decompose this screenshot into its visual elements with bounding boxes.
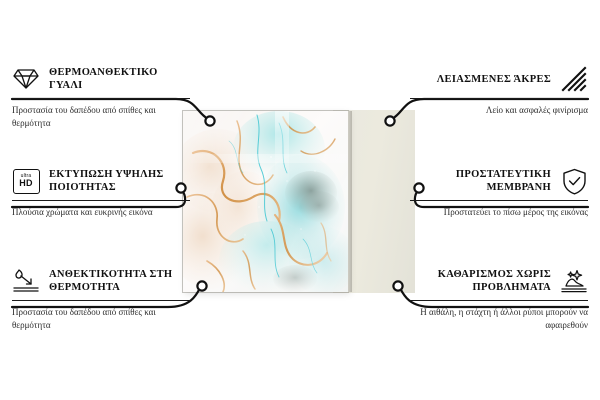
feature-description: Προστασία του δαπέδου από σπίθες και θερ… xyxy=(12,306,190,331)
feature-description: Προστασία του δαπέδου από σπίθες και θερ… xyxy=(12,104,190,129)
shield-check-icon xyxy=(560,167,588,195)
feature-header: ΠΡΟΣΤΑΤΕΥΤΙΚΗ ΜΕΜΒΡΑΝΗ xyxy=(410,166,588,196)
feature-rule xyxy=(410,200,588,201)
feature-description: Πλούσια χρώματα και ευκρινής εικόνα xyxy=(12,206,190,219)
sparkle-clean-icon xyxy=(560,267,588,295)
glass-panel-edge xyxy=(348,111,352,292)
feature-header: ultra HD ΕΚΤΥΠΩΣΗ ΥΨΗΛΗΣ ΠΟΙΟΤΗΤΑΣ xyxy=(12,166,190,196)
feature-header: ΚΑΘΑΡΙΣΜΟΣ ΧΩΡΙΣ ΠΡΟΒΛΗΜΑΤΑ xyxy=(410,266,588,296)
product-glass-panel xyxy=(183,111,348,292)
feature-rule xyxy=(410,300,588,301)
feature-header: ΘΕΡΜΟΑΝΘΕΚΤΙΚΟ ΓΥΑΛΙ xyxy=(12,64,190,94)
feature-title: ΚΑΘΑΡΙΣΜΟΣ ΧΩΡΙΣ ΠΡΟΒΛΗΜΑΤΑ xyxy=(410,268,551,294)
ultra-hd-icon: ultra HD xyxy=(12,167,40,195)
feature-title: ΠΡΟΣΤΑΤΕΥΤΙΚΗ ΜΕΜΒΡΑΝΗ xyxy=(410,168,551,194)
feature-description: Προστατεύει το πίσω μέρος της εικόνας xyxy=(410,206,588,219)
feature-header: ΑΝΘΕΚΤΙΚΟΤΗΤΑ ΣΤΗ ΘΕΡΜΟΤΗΤΑ xyxy=(12,266,190,296)
flame-heat-resistance-icon xyxy=(12,267,40,295)
feature-heat-durability: ΑΝΘΕΚΤΙΚΟΤΗΤΑ ΣΤΗ ΘΕΡΜΟΤΗΤΑ Προστασία το… xyxy=(12,266,190,331)
feature-description: Η αιθάλη, η στάχτη ή άλλοι ρύποι μπορούν… xyxy=(410,306,588,331)
feature-rule xyxy=(410,98,588,99)
feature-title: ΕΚΤΥΠΩΣΗ ΥΨΗΛΗΣ ΠΟΙΟΤΗΤΑΣ xyxy=(49,168,190,194)
feature-rule xyxy=(12,300,190,301)
infographic-canvas: ΘΕΡΜΟΑΝΘΕΚΤΙΚΟ ΓΥΑΛΙ Προστασία του δαπέδ… xyxy=(0,0,600,400)
feature-title: ΘΕΡΜΟΑΝΘΕΚΤΙΚΟ ΓΥΑΛΙ xyxy=(49,66,190,92)
feature-description: Λείο και ασφαλές φινίρισμα xyxy=(410,104,588,117)
feature-high-quality-print: ultra HD ΕΚΤΥΠΩΣΗ ΥΨΗΛΗΣ ΠΟΙΟΤΗΤΑΣ Πλούσ… xyxy=(12,166,190,219)
feature-easy-cleaning: ΚΑΘΑΡΙΣΜΟΣ ΧΩΡΙΣ ΠΡΟΒΛΗΜΑΤΑ Η αιθάλη, η … xyxy=(410,266,588,331)
feature-title: ΛΕΙΑΣΜΕΝΕΣ ΆΚΡΕΣ xyxy=(437,73,551,86)
feature-polished-edges: ΛΕΙΑΣΜΕΝΕΣ ΆΚΡΕΣ Λείο και ασφαλές φινίρι… xyxy=(410,64,588,117)
ultra-hd-icon-bottom-text: HD xyxy=(19,179,32,189)
feature-title: ΑΝΘΕΚΤΙΚΟΤΗΤΑ ΣΤΗ ΘΕΡΜΟΤΗΤΑ xyxy=(49,268,190,294)
feature-heat-resistant-glass: ΘΕΡΜΟΑΝΘΕΚΤΙΚΟ ΓΥΑΛΙ Προστασία του δαπέδ… xyxy=(12,64,190,129)
feature-rule xyxy=(12,98,190,99)
feature-protective-membrane: ΠΡΟΣΤΑΤΕΥΤΙΚΗ ΜΕΜΒΡΑΝΗ Προστατεύει το πί… xyxy=(410,166,588,219)
diamond-icon xyxy=(12,65,40,93)
feature-rule xyxy=(12,200,190,201)
feature-header: ΛΕΙΑΣΜΕΝΕΣ ΆΚΡΕΣ xyxy=(410,64,588,94)
polished-edges-icon xyxy=(560,65,588,93)
abstract-marble-artwork xyxy=(183,111,348,292)
